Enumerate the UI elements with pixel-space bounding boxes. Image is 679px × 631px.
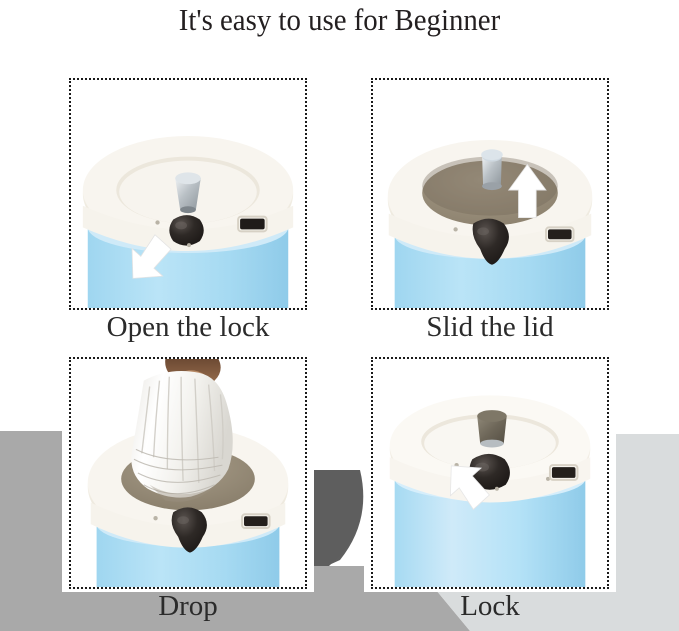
- page-title: It's easy to use for Beginner: [24, 0, 655, 40]
- black-lock-knob-gloss: [175, 222, 187, 230]
- step-panel-2: [371, 78, 609, 310]
- chrome-lid-knob-base: [180, 206, 196, 213]
- infographic-canvas: It's easy to use for Beginner: [0, 0, 679, 631]
- step-panel-1: [69, 78, 307, 310]
- black-lock-knob-gloss: [177, 516, 189, 524]
- step-panel-3: [69, 357, 307, 589]
- floor-dark-wedge-2: [307, 470, 362, 566]
- chrome-lid-knob-base: [482, 182, 502, 190]
- product-photo-step-4: [373, 359, 607, 587]
- screw-left: [153, 516, 157, 520]
- vent-slot: [552, 467, 576, 478]
- vent-slot: [244, 516, 268, 526]
- floor-left-slab: [0, 431, 62, 631]
- vent-slot: [240, 219, 265, 230]
- product-photo-step-1: [71, 80, 305, 308]
- vent-slot: [548, 229, 572, 239]
- black-lock-knob-gloss: [477, 227, 489, 235]
- product-photo-step-2: [373, 80, 607, 308]
- step-caption-3: Drop: [69, 589, 307, 623]
- screw-bottom: [495, 487, 499, 491]
- screw-left: [453, 227, 457, 231]
- chrome-lid-knob-top: [477, 410, 506, 422]
- step-caption-4: Lock: [371, 589, 609, 623]
- black-lock-knob: [169, 215, 203, 245]
- screw-left: [155, 220, 159, 224]
- step-caption-1: Open the lock: [69, 310, 307, 344]
- chrome-lid-knob-base: [480, 440, 504, 448]
- product-photo-step-3: [71, 359, 305, 587]
- floor-dark-wedge: [307, 470, 363, 575]
- step-panel-4: [371, 357, 609, 589]
- chrome-lid-knob-cap: [481, 149, 503, 160]
- chrome-lid-knob-top: [175, 172, 201, 184]
- step-caption-2: Slid the lid: [371, 310, 609, 344]
- screw-bottom: [187, 243, 191, 247]
- floor-right-slab: [610, 434, 679, 631]
